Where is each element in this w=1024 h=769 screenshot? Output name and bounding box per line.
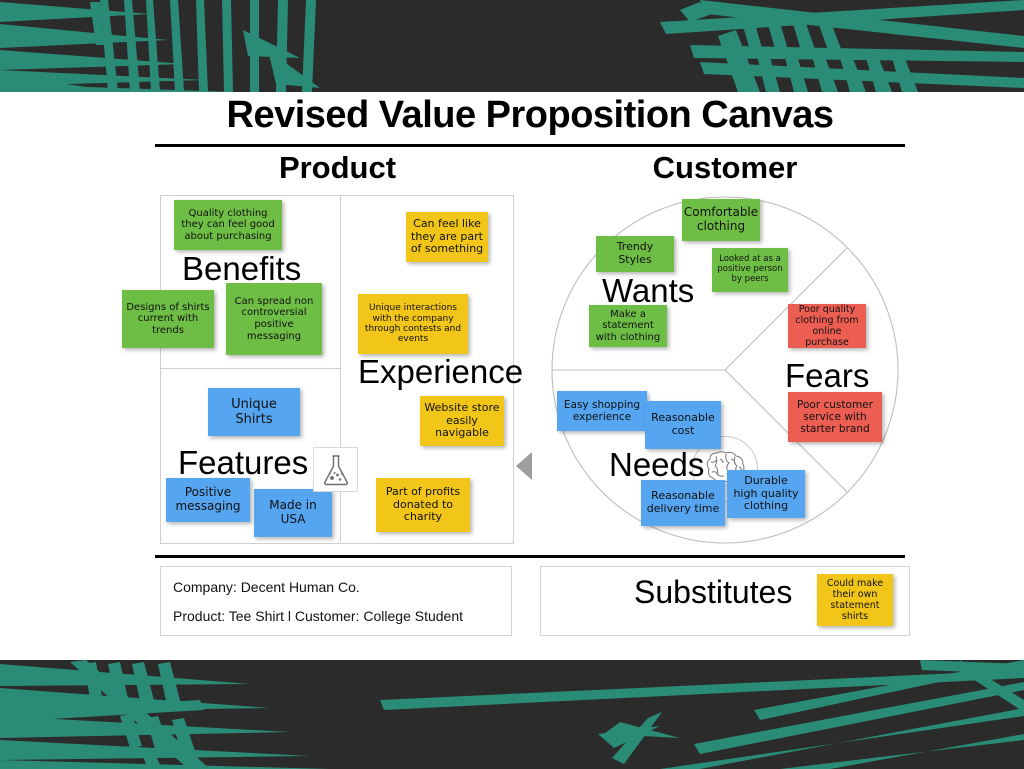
experience-arrow-icon <box>516 452 532 485</box>
sticky-note-wants-4[interactable]: Make a statement with clothing <box>589 305 667 347</box>
section-label-needs: Needs <box>609 446 704 484</box>
sticky-note-experience-2[interactable]: Unique interactions with the company thr… <box>358 294 468 354</box>
sticky-note-experience-1[interactable]: Can feel like they are part of something <box>406 212 488 262</box>
sticky-note-needs-3[interactable]: Reasonable delivery time <box>641 480 725 526</box>
sticky-note-benefits-1[interactable]: Quality clothing they can feel good abou… <box>174 200 282 250</box>
canvas-stage: Revised Value Proposition Canvas Product… <box>0 92 1024 660</box>
section-label-fears: Fears <box>785 357 869 395</box>
page-title: Revised Value Proposition Canvas <box>155 94 905 137</box>
sticky-note-experience-3[interactable]: Website store easily navigable <box>420 396 504 446</box>
sticky-note-fears-2[interactable]: Poor customer service with starter brand <box>788 392 882 442</box>
sticky-note-needs-4[interactable]: Durable high quality clothing <box>727 470 805 518</box>
sticky-note-benefits-3[interactable]: Can spread non controversial positive me… <box>226 283 322 355</box>
sticky-note-benefits-2[interactable]: Designs of shirts current with trends <box>122 290 214 348</box>
sticky-note-needs-2[interactable]: Reasonable cost <box>645 401 721 449</box>
sticky-note-experience-4[interactable]: Part of profits donated to charity <box>376 478 470 532</box>
title-divider <box>155 144 905 147</box>
section-label-substitutes: Substitutes <box>634 574 792 611</box>
company-info-box: Company: Decent Human Co. Product: Tee S… <box>160 566 512 636</box>
sticky-note-substitutes-1[interactable]: Could make their own statement shirts <box>817 574 893 626</box>
sticky-note-wants-1[interactable]: Trendy Styles <box>596 236 674 272</box>
sticky-note-wants-3[interactable]: Looked at as a positive person by peers <box>712 248 788 292</box>
flask-icon-tile <box>313 447 358 492</box>
top-palm-band <box>0 0 1024 92</box>
palm-frond-pattern-bottom <box>0 660 1024 769</box>
company-line: Company: Decent Human Co. <box>173 579 499 595</box>
column-heading-customer: Customer <box>540 150 910 186</box>
sticky-note-features-3[interactable]: Made in USA <box>254 489 332 537</box>
section-label-features: Features <box>178 444 308 482</box>
section-label-experience: Experience <box>358 353 523 391</box>
product-grid-horizontal-divider <box>160 368 340 369</box>
flask-icon <box>321 454 351 486</box>
palm-frond-pattern-top <box>0 0 1024 92</box>
sticky-note-needs-1[interactable]: Easy shopping experience <box>557 391 647 431</box>
product-customer-line: Product: Tee Shirt l Customer: College S… <box>173 608 499 624</box>
sticky-note-wants-2[interactable]: Comfortable clothing <box>682 199 760 241</box>
sticky-note-fears-1[interactable]: Poor quality clothing from online purcha… <box>788 304 866 348</box>
sticky-note-features-1[interactable]: Unique Shirts <box>208 388 300 436</box>
bottom-palm-band <box>0 660 1024 769</box>
bottom-divider <box>155 555 905 558</box>
column-heading-product: Product <box>155 150 520 186</box>
sticky-note-features-2[interactable]: Positive messaging <box>166 478 250 522</box>
